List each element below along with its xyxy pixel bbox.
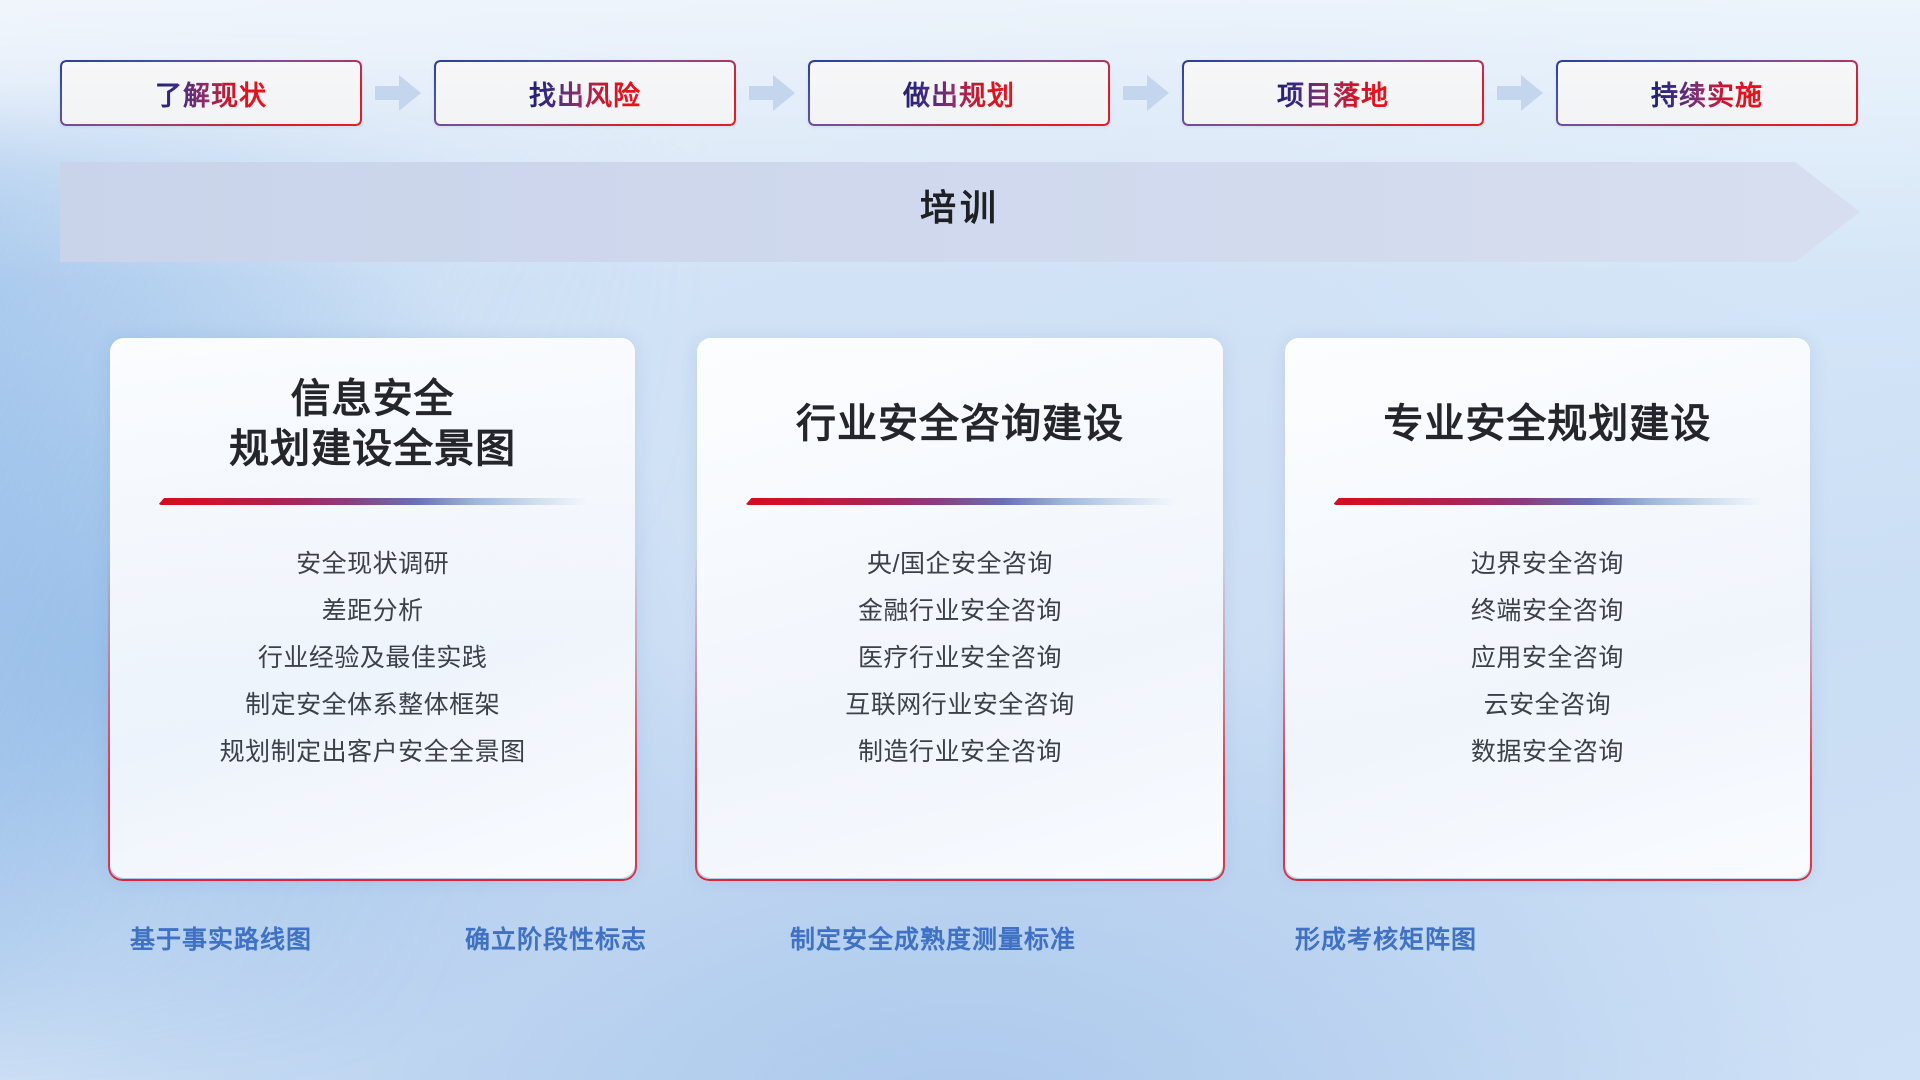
list-item: 边界安全咨询: [1311, 541, 1784, 588]
chevron-right-arrow-icon: [362, 67, 434, 119]
card-title-line: 规划建设全景图: [136, 424, 609, 474]
card-title: 专业安全规划建设: [1311, 372, 1784, 476]
card-item-list: 安全现状调研 差距分析 行业经验及最佳实践 制定安全体系整体框架 规划制定出客户…: [136, 541, 609, 776]
list-item: 行业经验及最佳实践: [136, 635, 609, 682]
card-professional-security-planning[interactable]: 专业安全规划建设 边界安全咨询 终端安全咨询 应用安全咨询 云安全咨询 数据安全…: [1285, 338, 1810, 878]
card-item-list: 央/国企安全咨询 金融行业安全咨询 医疗行业安全咨询 互联网行业安全咨询 制造行…: [723, 541, 1196, 776]
list-item: 央/国企安全咨询: [723, 541, 1196, 588]
list-item: 互联网行业安全咨询: [723, 682, 1196, 729]
card-item-list: 边界安全咨询 终端安全咨询 应用安全咨询 云安全咨询 数据安全咨询: [1311, 541, 1784, 776]
list-item: 差距分析: [136, 588, 609, 635]
step-box-1[interactable]: 了解现状: [60, 60, 362, 126]
step-label: 持续实施: [1651, 74, 1763, 113]
list-item: 规划制定出客户安全全景图: [136, 729, 609, 776]
card-industry-security-consulting[interactable]: 行业安全咨询建设 央/国企安全咨询 金融行业安全咨询 医疗行业安全咨询 互联网行…: [697, 338, 1222, 878]
footer-label-row: 基于事实路线图 确立阶段性标志 制定安全成熟度测量标准 形成考核矩阵图: [0, 920, 1920, 970]
process-step-row: 了解现状 找出风险 做出规划 项目落地 持续实施: [60, 60, 1860, 126]
list-item: 云安全咨询: [1311, 682, 1784, 729]
step-box-5[interactable]: 持续实施: [1556, 60, 1858, 126]
card-row: 信息安全 规划建设全景图 安全现状调研 差距分析 行业经验及最佳实践 制定安全体…: [110, 338, 1810, 878]
list-item: 制定安全体系整体框架: [136, 682, 609, 729]
card-divider: [158, 498, 587, 505]
training-banner: 培训: [60, 162, 1860, 262]
step-box-3[interactable]: 做出规划: [808, 60, 1110, 126]
card-title-line: 信息安全: [136, 374, 609, 424]
step-box-4[interactable]: 项目落地: [1182, 60, 1484, 126]
step-label: 项目落地: [1277, 74, 1389, 113]
card-divider: [1333, 498, 1762, 505]
chevron-right-arrow-icon: [1484, 67, 1556, 119]
card-divider: [745, 498, 1174, 505]
footer-label: 确立阶段性标志: [465, 920, 647, 956]
list-item: 安全现状调研: [136, 541, 609, 588]
chevron-right-arrow-icon: [736, 67, 808, 119]
list-item: 制造行业安全咨询: [723, 729, 1196, 776]
list-item: 金融行业安全咨询: [723, 588, 1196, 635]
step-label: 了解现状: [155, 74, 267, 113]
list-item: 应用安全咨询: [1311, 635, 1784, 682]
banner-title: 培训: [60, 179, 1860, 231]
card-title: 信息安全 规划建设全景图: [136, 372, 609, 476]
list-item: 医疗行业安全咨询: [723, 635, 1196, 682]
footer-label: 制定安全成熟度测量标准: [790, 920, 1076, 956]
step-label: 做出规划: [903, 74, 1015, 113]
card-title-line: 行业安全咨询建设: [723, 399, 1196, 449]
step-box-2[interactable]: 找出风险: [434, 60, 736, 126]
list-item: 终端安全咨询: [1311, 588, 1784, 635]
footer-label: 基于事实路线图: [130, 920, 312, 956]
card-title-line: 专业安全规划建设: [1311, 399, 1784, 449]
step-label: 找出风险: [529, 74, 641, 113]
chevron-right-arrow-icon: [1110, 67, 1182, 119]
card-title: 行业安全咨询建设: [723, 372, 1196, 476]
footer-label: 形成考核矩阵图: [1295, 920, 1477, 956]
list-item: 数据安全咨询: [1311, 729, 1784, 776]
card-information-security-panorama[interactable]: 信息安全 规划建设全景图 安全现状调研 差距分析 行业经验及最佳实践 制定安全体…: [110, 338, 635, 878]
